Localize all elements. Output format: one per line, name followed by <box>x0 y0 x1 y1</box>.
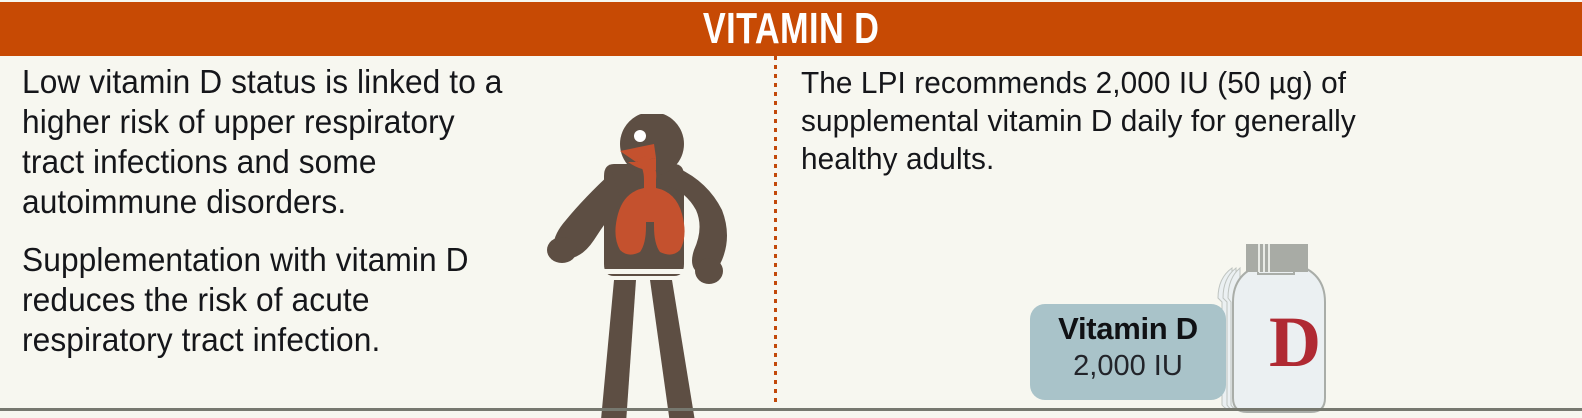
left-paragraph-2: Supplementation with vitamin D reduces t… <box>22 240 512 360</box>
supplement-label-dose: 2,000 IU <box>1030 348 1226 384</box>
vitamin-d-infographic: VITAMIN D Low vitamin D status is linked… <box>0 0 1582 418</box>
supplement-label-name: Vitamin D <box>1030 310 1226 348</box>
supplement-label-chip: Vitamin D 2,000 IU <box>1030 304 1226 400</box>
body-area: Low vitamin D status is linked to a high… <box>0 56 1582 408</box>
right-panel-text: The LPI recommends 2,000 IU (50 µg) of s… <box>801 64 1461 196</box>
header-bar: VITAMIN D <box>0 2 1582 56</box>
left-panel-text: Low vitamin D status is linked to a high… <box>22 62 532 378</box>
left-paragraph-1: Low vitamin D status is linked to a high… <box>22 62 512 222</box>
bottom-rule <box>0 408 1582 411</box>
bottle-letter-d: D <box>1252 304 1338 380</box>
eye-icon <box>634 130 646 142</box>
column-divider <box>774 56 777 402</box>
page-title: VITAMIN D <box>703 7 879 51</box>
right-paragraph-1: The LPI recommends 2,000 IU (50 µg) of s… <box>801 64 1435 178</box>
cap-ridges <box>1258 244 1270 272</box>
supplement-graphic: D Vitamin D 2,000 IU <box>1024 242 1354 418</box>
person-respiratory-icon <box>532 114 772 418</box>
